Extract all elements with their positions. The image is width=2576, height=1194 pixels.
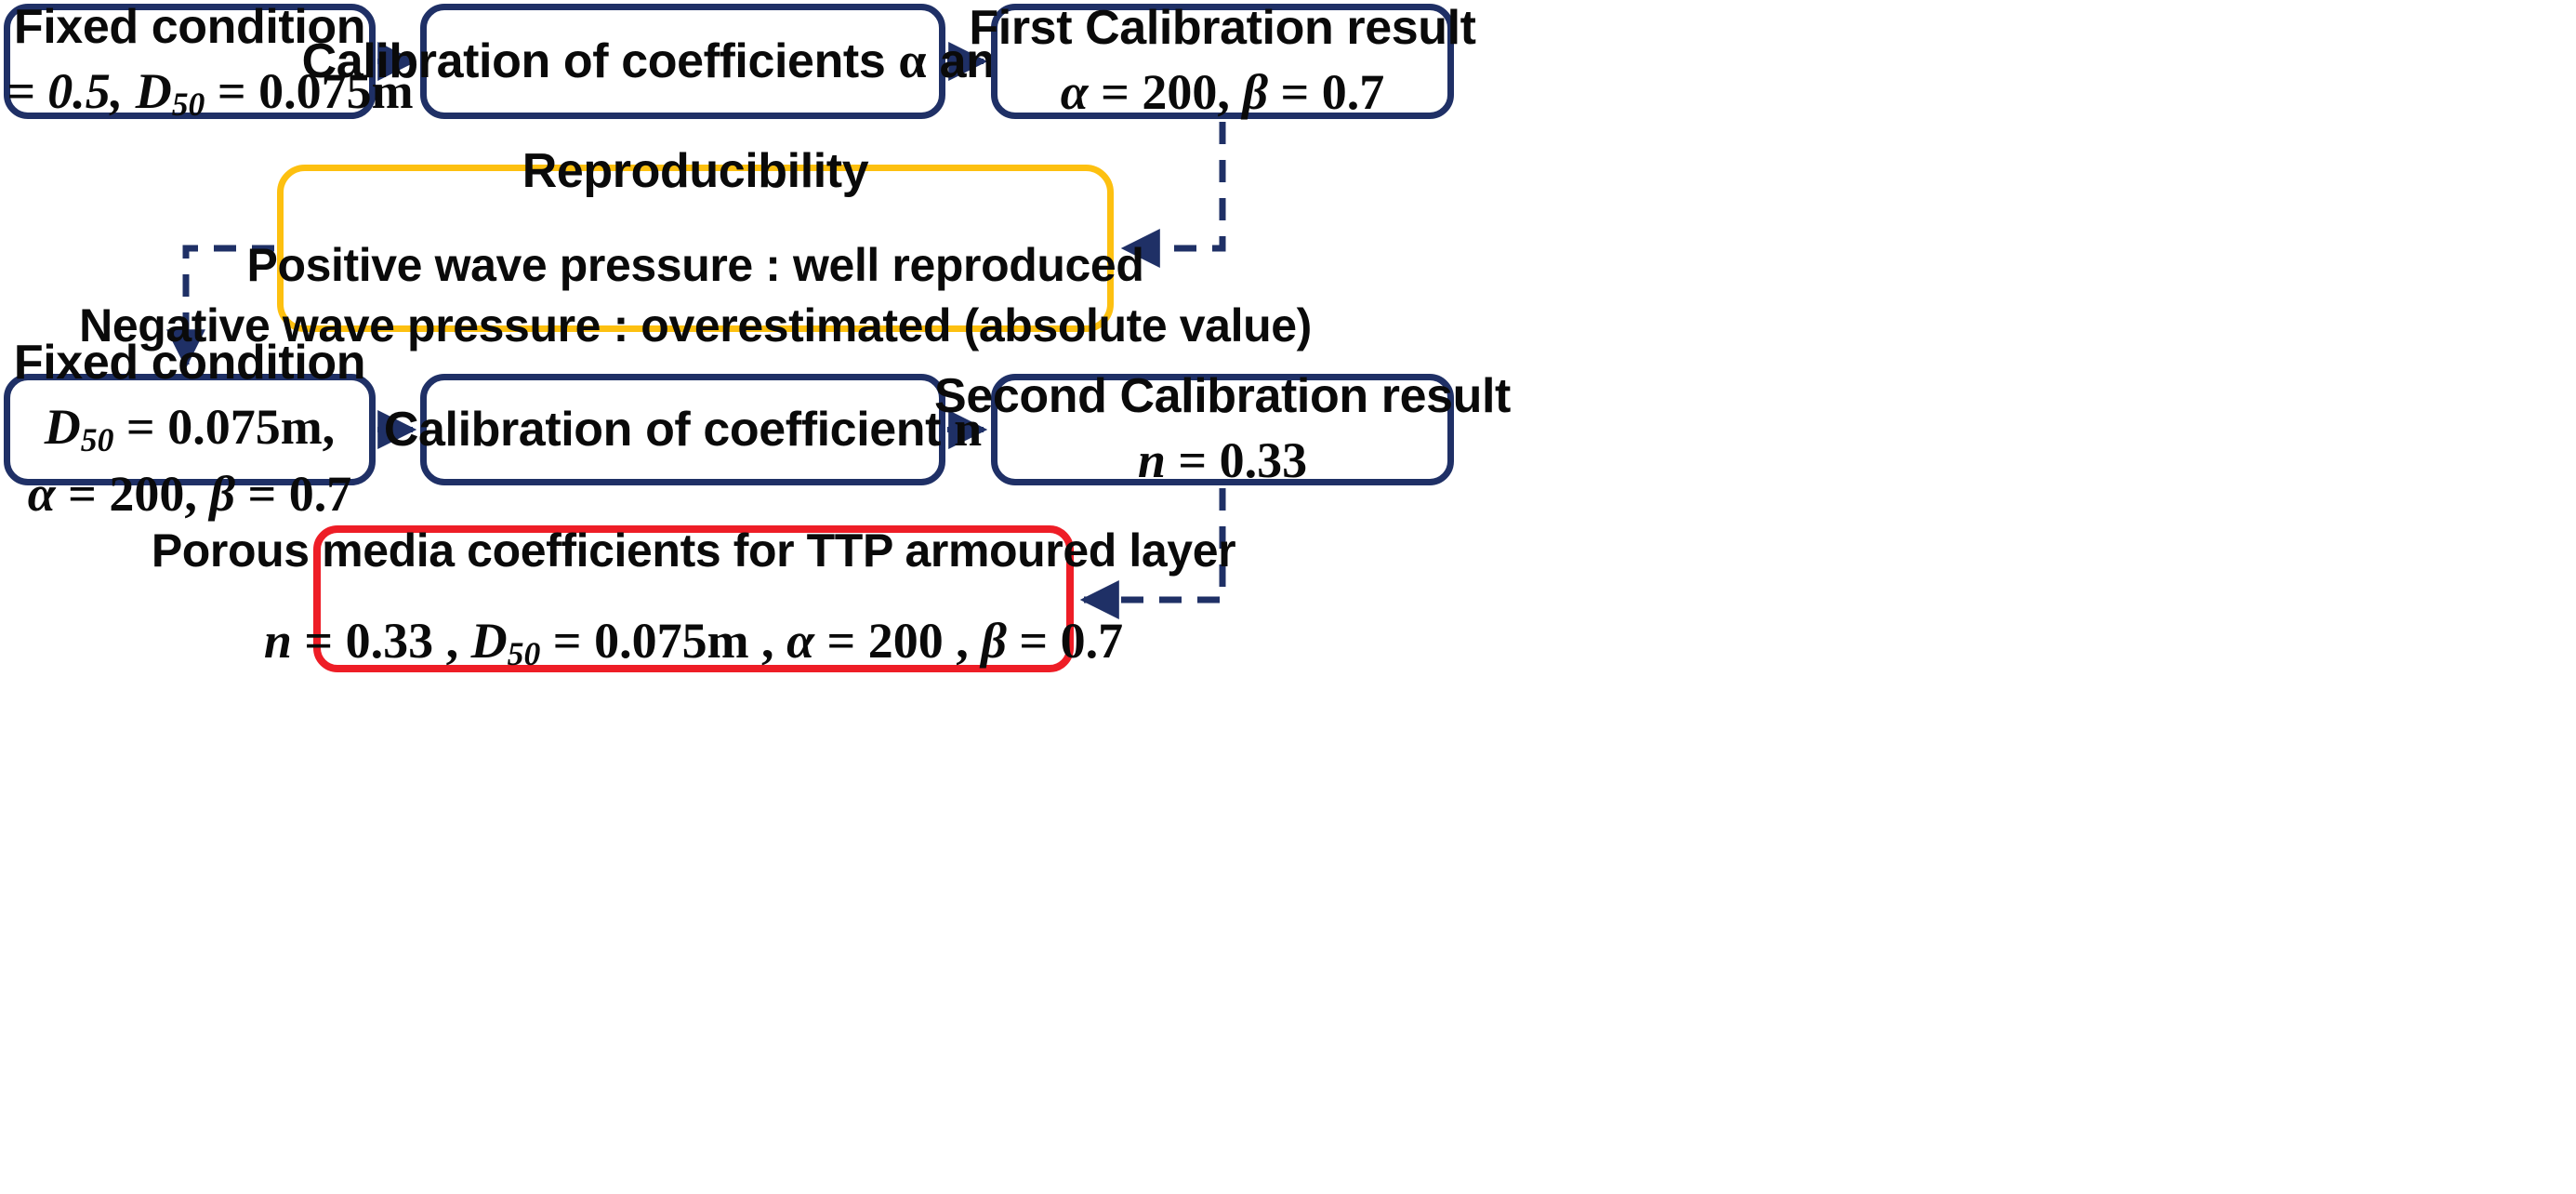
node-second-calibration-result[interactable]: Second Calibration result n = 0.33 bbox=[991, 374, 1454, 485]
reproducibility-title: Reproducibility bbox=[522, 142, 868, 201]
label-prefix: Calibration of coefficients bbox=[302, 34, 899, 88]
second-result-values: n = 0.33 bbox=[1138, 431, 1307, 492]
value-d50-subscript: 50 bbox=[172, 85, 205, 122]
calibration-alpha-beta-label: Calibration of coefficients α and β bbox=[302, 31, 1064, 92]
symbol-n: n bbox=[1138, 432, 1166, 488]
symbol-d50: D bbox=[471, 613, 508, 669]
value-d50-number: = 0.075m, bbox=[113, 399, 335, 455]
flowchart-canvas: Fixed condition n = 0.5, D50 = 0.075m Ca… bbox=[0, 0, 2576, 1194]
symbol-alpha: α bbox=[898, 33, 926, 88]
value-d50-subscript: 50 bbox=[81, 420, 114, 458]
connector-first-result-to-reproducibility bbox=[1125, 122, 1222, 248]
value-alpha: = 200, bbox=[1089, 64, 1243, 120]
final-result-values: n = 0.33 , D50 = 0.075m , α = 200 , β = … bbox=[264, 611, 1123, 674]
symbol-alpha: α bbox=[1061, 64, 1089, 120]
value-beta: = 0.7 bbox=[1268, 64, 1384, 120]
symbol-alpha: α bbox=[28, 466, 56, 522]
fixed-condition-2-alpha-beta: α = 200, β = 0.7 bbox=[28, 464, 352, 525]
symbol-n: n bbox=[264, 613, 292, 669]
reproducibility-positive-line: Positive wave pressure : well reproduced bbox=[247, 237, 1144, 294]
node-fixed-condition-2[interactable]: Fixed condition D50 = 0.075m, α = 200, β… bbox=[4, 374, 376, 485]
value-d50: = 0.075m , bbox=[540, 613, 786, 669]
value-d50-symbol: D bbox=[136, 63, 172, 119]
node-final-result[interactable]: Porous media coefficients for TTP armour… bbox=[313, 525, 1074, 672]
node-calibration-n[interactable]: Calibration of coefficient n bbox=[420, 374, 945, 485]
fixed-condition-2-d50: D50 = 0.075m, bbox=[45, 397, 335, 460]
symbol-d50-subscript: 50 bbox=[508, 635, 541, 672]
value-n: = 0.33 bbox=[1166, 432, 1307, 488]
node-reproducibility[interactable]: Reproducibility Positive wave pressure :… bbox=[277, 165, 1114, 332]
value-beta: = 0.7 bbox=[1007, 613, 1123, 669]
value-n: n = 0.5, bbox=[0, 63, 123, 119]
label-prefix: Calibration of coefficient bbox=[384, 403, 954, 457]
value-alpha: = 200, bbox=[56, 466, 210, 522]
value-beta: = 0.7 bbox=[235, 466, 351, 522]
second-result-title: Second Calibration result bbox=[934, 367, 1511, 426]
calibration-n-label: Calibration of coefficient n bbox=[384, 399, 982, 460]
value-alpha: = 200 , bbox=[814, 613, 981, 669]
node-calibration-alpha-beta[interactable]: Calibration of coefficients α and β bbox=[420, 4, 945, 119]
symbol-beta: β bbox=[1242, 64, 1268, 120]
fixed-condition-2-title: Fixed condition bbox=[14, 334, 365, 392]
value-d50-symbol: D bbox=[45, 399, 81, 455]
first-result-values: α = 200, β = 0.7 bbox=[1061, 62, 1385, 124]
symbol-beta: β bbox=[981, 613, 1007, 669]
final-result-title: Porous media coefficients for TTP armour… bbox=[152, 523, 1235, 579]
symbol-alpha: α bbox=[786, 613, 814, 669]
node-first-calibration-result[interactable]: First Calibration result α = 200, β = 0.… bbox=[991, 4, 1454, 119]
symbol-beta: β bbox=[209, 466, 235, 522]
value-n: = 0.33 , bbox=[292, 613, 471, 669]
first-result-title: First Calibration result bbox=[969, 0, 1475, 59]
